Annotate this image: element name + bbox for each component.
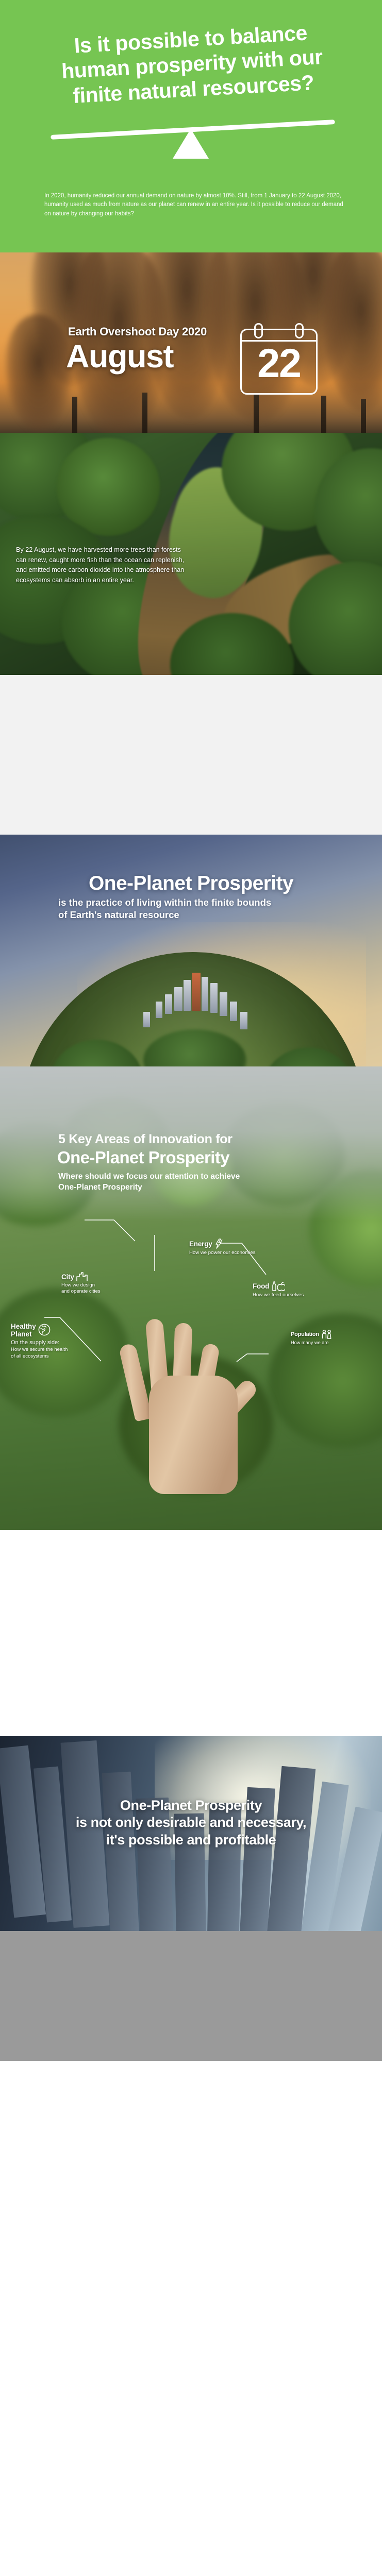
smoke-plume-icon [5, 314, 72, 433]
globe-icon [38, 1324, 51, 1336]
opp-subtitle-line-1: is the practice of living within the fin… [58, 896, 337, 909]
palm [149, 1376, 238, 1494]
healthy-planet-lead: On the supply side: [11, 1340, 68, 1346]
smokestack-icon [254, 394, 259, 433]
key-area-city-title: City [61, 1272, 101, 1281]
finger-index [119, 1343, 153, 1422]
balance-fulcrum-icon [173, 129, 209, 159]
key-area-city: City How we design and operate cities [61, 1272, 101, 1295]
key-area-healthy-planet-desc: How we secure the health of all ecosyste… [11, 1347, 68, 1360]
smokestack-icon [72, 397, 77, 433]
overshoot-day-number: 22 [242, 343, 316, 383]
key-area-energy-desc: How we power our economies [189, 1250, 256, 1256]
key-area-food-title: Food [253, 1281, 304, 1291]
planet-building [202, 977, 208, 1011]
hand-graphic [0, 1066, 382, 1530]
key-area-population-title: Population [291, 1330, 333, 1339]
smoke-plume-icon [322, 252, 382, 412]
planet-building [143, 1012, 150, 1027]
hero-title: Is it possible to balance human prosperi… [24, 18, 360, 111]
key-area-energy: Energy How we power our economies [189, 1239, 256, 1256]
planet-tree [262, 1047, 355, 1066]
overshoot-kicker: Earth Overshoot Day 2020 [68, 325, 207, 338]
planet-building [165, 994, 172, 1014]
city-quote-text: One-Planet Prosperity is not only desira… [36, 1797, 346, 1849]
two-people-icon [321, 1330, 333, 1339]
calendar-ring-icon [254, 323, 263, 338]
planet-building [210, 983, 218, 1013]
opp-title: One-Planet Prosperity [0, 872, 382, 895]
key-area-healthy-planet: Healthy Planet On the supply side: How w… [11, 1323, 68, 1360]
smokestack-icon [361, 399, 366, 433]
calendar-ring-icon [295, 323, 304, 338]
overshoot-month: August [66, 338, 173, 375]
healthy-planet-word-1: Healthy [11, 1323, 36, 1330]
planet-building [192, 973, 201, 1011]
river-paragraph: By 22 August, we have harvested more tre… [16, 545, 186, 585]
key-area-food-desc: How we feed ourselves [253, 1292, 304, 1298]
opp-subtitle-line-2: of Earth's natural resource [58, 909, 337, 921]
key-area-population: Population How many we are [291, 1330, 333, 1346]
planet-building [220, 992, 227, 1016]
key-area-population-desc: How many we are [291, 1340, 333, 1346]
key-area-healthy-planet-title: Healthy Planet [11, 1323, 68, 1338]
city-quote-line-2: is not only desirable and necessary, [36, 1814, 346, 1831]
infographic-page: Is it possible to balance human prosperi… [0, 0, 382, 2061]
calendar-icon: 22 [240, 329, 318, 395]
planet-building [240, 1012, 247, 1029]
healthy-planet-word-2: Planet [11, 1330, 36, 1338]
planet-building [184, 980, 191, 1011]
city-skyline-icon [76, 1272, 89, 1281]
move-the-date-section: Let's #MoveTheDate together While our pl… [0, 1530, 382, 1736]
key-area-energy-title: Energy [189, 1239, 256, 1249]
city-quote-line-1: One-Planet Prosperity [36, 1797, 346, 1814]
one-planet-prosperity-section [0, 835, 382, 1066]
footer-section: Schneider Electric partners with Global … [0, 1931, 382, 2061]
food-bottle-apple-icon [271, 1281, 285, 1291]
lightning-bolt-icon [214, 1239, 225, 1249]
smokestack-icon [142, 393, 147, 433]
planet-building [230, 1002, 237, 1021]
hero-section: Is it possible to balance human prosperi… [0, 0, 382, 252]
city-quote-line-3: it's possible and profitable [36, 1832, 346, 1849]
key-area-food: Food How we feed ourselves [253, 1281, 304, 1298]
earths-section: Our annual demand is now 60% higher than… [0, 675, 382, 835]
hero-paragraph: In 2020, humanity reduced our annual dem… [44, 192, 346, 218]
planet-building [174, 987, 182, 1011]
planet-tree [51, 1040, 143, 1066]
planet-tree [143, 1029, 246, 1066]
key-area-city-desc: How we design and operate cities [61, 1282, 101, 1295]
opp-subtitle: is the practice of living within the fin… [58, 896, 337, 921]
overshoot-day-section [0, 252, 382, 433]
planet-building [156, 1002, 162, 1018]
smokestack-icon [321, 396, 326, 433]
